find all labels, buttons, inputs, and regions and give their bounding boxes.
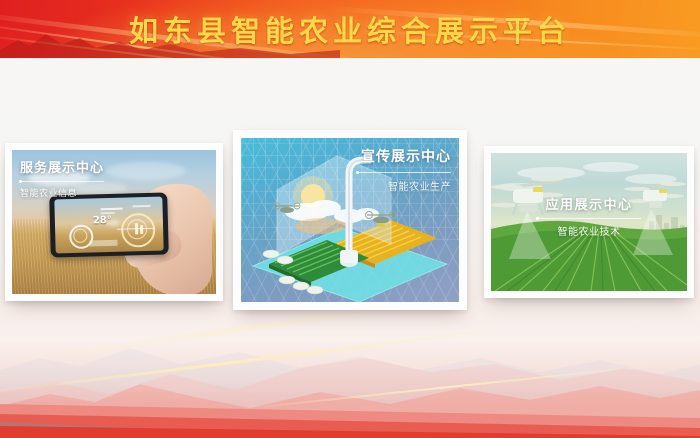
hud-bar-1 [101,208,123,211]
smartphone: 28° [49,192,169,257]
card-promotion-divider [357,172,451,173]
card-application-divider [537,218,641,219]
card-application-subtitle: 智能农业技术 [484,223,694,238]
bottom-red-bands [0,388,700,438]
card-service-caption: 服务展示中心 智能农业信息 [20,157,104,199]
card-service[interactable]: 28° 服务展示中心 智能农业信息 [5,143,223,301]
card-application-caption: 应用展示中心 智能农业技术 [484,194,694,238]
hud-bar-3 [132,205,150,207]
card-promotion-title: 宣传展示中心 [357,146,451,166]
hud-chart-bar-2 [140,225,143,234]
card-application-title: 应用展示中心 [484,194,694,213]
hud-chart-panel [89,240,117,247]
cloud-icon [107,220,120,226]
card-service-divider [20,181,104,182]
hud-bar-2 [101,212,115,214]
card-service-title: 服务展示中心 [20,157,104,176]
cloud-shape-2 [106,162,186,180]
card-service-subtitle: 智能农业信息 [20,186,104,199]
card-promotion[interactable]: 宣传展示中心 智能农业生产 [233,130,467,310]
card-promotion-caption: 宣传展示中心 智能农业生产 [357,146,451,193]
app-root: 如东县智能农业综合展示平台 [0,0,700,438]
phone-screen: 28° [54,197,163,254]
card-promotion-subtitle: 智能农业生产 [357,178,451,193]
hud-chart-bar-1 [135,223,138,234]
card-application[interactable]: 应用展示中心 智能农业技术 [484,146,694,298]
header-banner: 如东县智能农业综合展示平台 [0,0,700,58]
page-title: 如东县智能农业综合展示平台 [0,0,700,58]
